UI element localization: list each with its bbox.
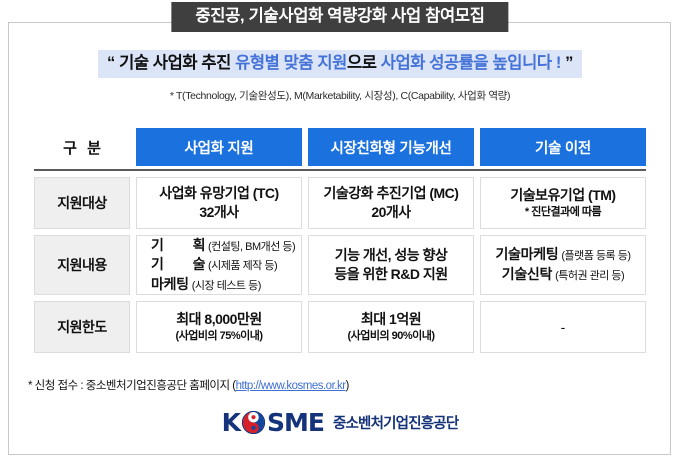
header-col2-text: 시장친화형 기능개선 <box>308 128 474 166</box>
header-cell-label: 구 분 <box>34 128 130 166</box>
cell-r2c1-line1: 기 획 (컨설팅, BM개선 등) <box>151 236 295 256</box>
row-label-support-limit: 지원한도 <box>34 301 130 353</box>
cell-r2c2: 기능 개선, 성능 향상 등을 위한 R&D 지원 <box>308 235 474 295</box>
cell-r3c2-line2: (사업비의 90%이내) <box>347 329 434 344</box>
cell-r2c1: 기 획 (컨설팅, BM개선 등) 기 술 (시제품 제작 등) 마케팅 (시장… <box>136 235 302 295</box>
cell-r1c2: 기술강화 추진기업 (MC) 20개사 <box>308 177 474 229</box>
table-row: 지원내용 기 획 (컨설팅, BM개선 등) 기 술 (시제품 제작 등) 마케… <box>34 235 646 295</box>
cell-r3c1-line2: (사업비의 75%이내) <box>175 329 262 344</box>
header-label-text: 구 분 <box>60 137 104 158</box>
cell-r2c3-line1: 기술마케팅 (플랫폼 등록 등) <box>495 245 630 265</box>
cell-r1c2-line2: 20개사 <box>371 203 410 222</box>
quote-highlight: “ 기술 사업화 추진 유형별 맞춤 지원으로 사업화 성공률을 높입니다 ! … <box>98 50 582 78</box>
keyword-tech-trust: 기술신탁 <box>502 266 552 282</box>
header-underline <box>34 169 646 171</box>
cell-r3c1: 최대 8,000만원 (사업비의 75%이내) <box>136 301 302 353</box>
header-col3-text: 기술 이전 <box>480 128 646 166</box>
cell-r1c3-line2: * 진단결과에 따름 <box>525 205 601 220</box>
header-cell-col1: 사업화 지원 <box>136 128 302 166</box>
quote-segment-1: 기술 사업화 추진 <box>119 54 231 72</box>
page-title: 중진공, 기술사업화 역량강화 사업 참여모집 <box>171 2 508 32</box>
quote-segment-4: 사업화 성공률을 높입니다 ! <box>381 54 561 72</box>
keyword-technology: 기 술 <box>151 255 205 275</box>
row-label-support-content: 지원내용 <box>34 235 130 295</box>
keyword-marketing: 마케팅 <box>151 276 189 292</box>
kosme-logo: K SME 중소벤처기업진흥공단 <box>0 410 680 435</box>
cell-r2c3-line2: 기술신탁 (특허권 관리 등) <box>502 265 624 285</box>
cell-r3c2: 최대 1억원 (사업비의 90%이내) <box>308 301 474 353</box>
paren-technology: (시제품 제작 등) <box>208 260 277 272</box>
header-cell-col2: 시장친화형 기능개선 <box>308 128 474 166</box>
cell-r3c1-line1: 최대 8,000만원 <box>176 310 261 329</box>
paren-tech-trust: (특허권 관리 등) <box>555 270 624 282</box>
title-section: 중진공, 기술사업화 역량강화 사업 참여모집 <box>0 0 680 46</box>
keyword-tech-marketing: 기술마케팅 <box>495 246 558 262</box>
application-note: * 신청 접수 : 중소벤처기업진흥공단 홈페이지 (http://www.ko… <box>28 377 349 393</box>
paren-marketing: (시장 테스트 등) <box>192 280 261 292</box>
cell-r2c2-line2: 등을 위한 R&D 지원 <box>334 265 447 284</box>
logo-letters-sme: SME <box>267 410 324 435</box>
cell-r2c1-line3: 마케팅 (시장 테스트 등) <box>151 275 261 295</box>
cell-r1c1: 사업화 유망기업 (TC) 32개사 <box>136 177 302 229</box>
quote-segment-3: 으로 <box>347 54 377 72</box>
cell-r1c3: 기술보유기업 (TM) * 진단결과에 따름 <box>480 177 646 229</box>
cell-r1c2-line1: 기술강화 추진기업 (MC) <box>324 184 459 203</box>
quote-section: “ 기술 사업화 추진 유형별 맞춤 지원으로 사업화 성공률을 높입니다 ! … <box>0 50 680 78</box>
application-note-prefix: * 신청 접수 : 중소벤처기업진흥공단 홈페이지 ( <box>28 380 236 392</box>
cell-r3c3-line1: - <box>561 319 566 335</box>
cell-r2c3: 기술마케팅 (플랫폼 등록 등) 기술신탁 (특허권 관리 등) <box>480 235 646 295</box>
logo-korean-name: 중소벤처기업진흥공단 <box>333 412 458 433</box>
cell-r1c1-line1: 사업화 유망기업 (TC) <box>159 184 278 203</box>
paren-tech-marketing: (플랫폼 등록 등) <box>561 250 630 262</box>
quote-open-mark: “ <box>107 54 115 72</box>
logo-letter-k: K <box>222 410 240 435</box>
kosme-website-link[interactable]: http://www.kosmes.or.kr <box>236 380 346 392</box>
cell-r2c2-line1: 기능 개선, 성능 향상 <box>335 246 448 265</box>
cell-r2c1-line2: 기 술 (시제품 제작 등) <box>151 255 277 275</box>
application-note-suffix: ) <box>346 380 349 392</box>
comparison-table: 구 분 사업화 지원 시장친화형 기능개선 기술 이전 지원대상 사업화 유망기… <box>34 128 646 353</box>
paren-planning: (컨설팅, BM개선 등) <box>208 241 295 253</box>
cell-r3c2-line1: 최대 1억원 <box>361 310 421 329</box>
quote-close-mark: ” <box>565 54 573 72</box>
keyword-planning: 기 획 <box>151 236 205 256</box>
table-row: 지원한도 최대 8,000만원 (사업비의 75%이내) 최대 1억원 (사업비… <box>34 301 646 353</box>
cell-r1c3-line1: 기술보유기업 (TM) <box>510 186 615 205</box>
header-col1-text: 사업화 지원 <box>136 128 302 166</box>
cell-r1c1-line2: 32개사 <box>199 203 238 222</box>
table-header-row: 구 분 사업화 지원 시장친화형 기능개선 기술 이전 <box>34 128 646 166</box>
quote-segment-2: 유형별 맞춤 지원 <box>235 54 347 72</box>
abbreviation-note: * T(Technology, 기술완성도), M(Marketability,… <box>0 88 680 103</box>
cell-r3c3: - <box>480 301 646 353</box>
header-cell-col3: 기술 이전 <box>480 128 646 166</box>
taegeuk-icon <box>242 411 265 434</box>
table-row: 지원대상 사업화 유망기업 (TC) 32개사 기술강화 추진기업 (MC) 2… <box>34 177 646 229</box>
logo-wordmark: K SME 중소벤처기업진흥공단 <box>222 410 459 435</box>
row-label-support-target: 지원대상 <box>34 177 130 229</box>
